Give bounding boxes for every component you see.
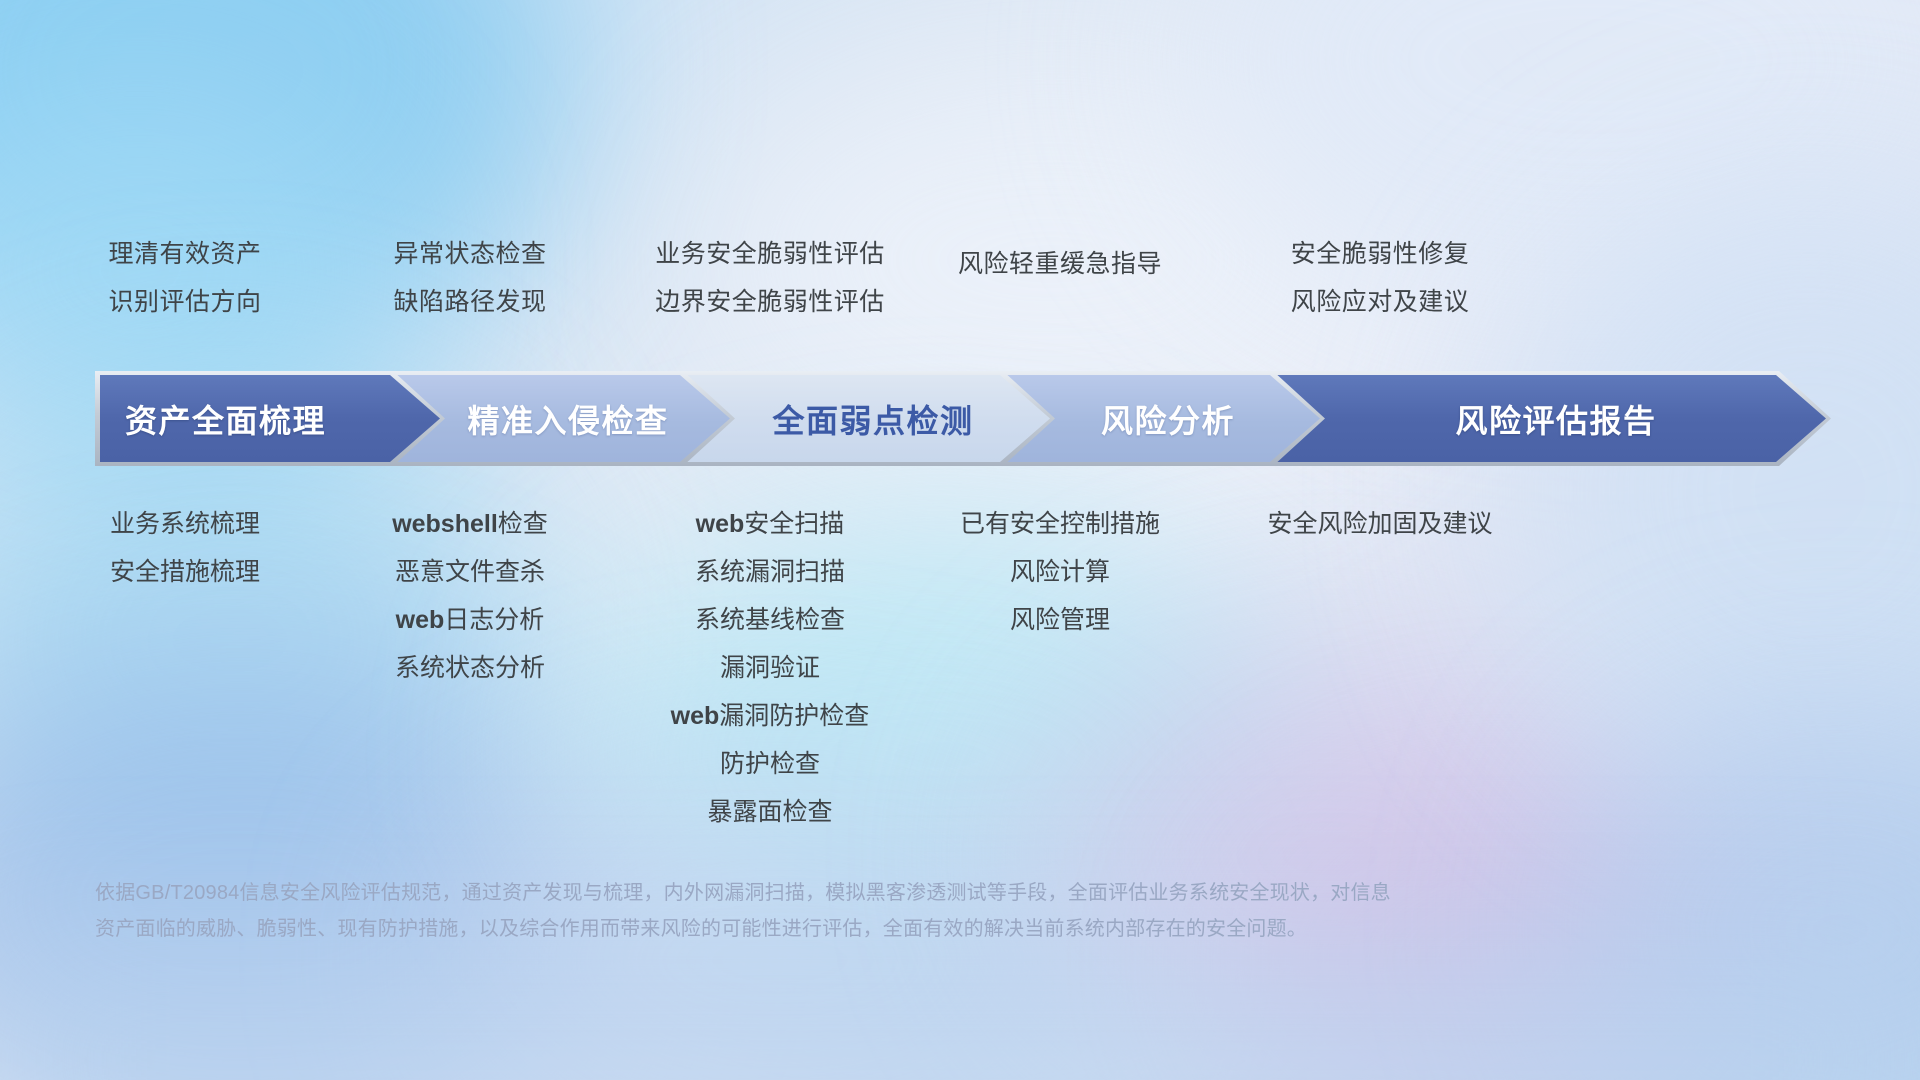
bottom-note-item: 风险管理 bbox=[860, 596, 1260, 644]
bottom-note-item: 风险计算 bbox=[860, 548, 1260, 596]
top-note-item: 安全脆弱性修复 bbox=[1180, 230, 1580, 278]
stage-chevron-band: 资产全面梳理精准入侵检查全面弱点检测风险分析风险评估报告 bbox=[95, 371, 1831, 466]
note-latin-prefix: web bbox=[696, 510, 745, 538]
bottom-note-item: 安全风险加固及建议 bbox=[1180, 500, 1580, 548]
stage-chevron-1[interactable]: 资产全面梳理 bbox=[95, 371, 445, 466]
bottom-notes-column: 安全风险加固及建议 bbox=[1180, 500, 1580, 548]
note-latin-prefix: web bbox=[396, 606, 445, 634]
footer-description: 依据GB/T20984信息安全风险评估规范，通过资产发现与梳理，内外网漏洞扫描，… bbox=[95, 875, 1615, 947]
note-cjk-suffix: 检查 bbox=[498, 510, 548, 538]
footer-line-2: 资产面临的威胁、脆弱性、现有防护措施，以及综合作用而带来风险的可能性进行评估，全… bbox=[95, 911, 1615, 947]
bottom-note-item: 防护检查 bbox=[570, 740, 970, 788]
top-note-item: 风险应对及建议 bbox=[1180, 278, 1580, 326]
bottom-note-item: web漏洞防护检查 bbox=[570, 692, 970, 740]
top-notes-row: 理清有效资产识别评估方向异常状态检查缺陷路径发现业务安全脆弱性评估边界安全脆弱性… bbox=[95, 230, 1825, 330]
stage-chevron-5[interactable]: 风险评估报告 bbox=[1265, 371, 1831, 466]
note-latin-prefix: webshell bbox=[392, 510, 498, 538]
process-diagram: 理清有效资产识别评估方向异常状态检查缺陷路径发现业务安全脆弱性评估边界安全脆弱性… bbox=[0, 0, 1920, 1080]
note-cjk-suffix: 漏洞防护检查 bbox=[719, 702, 869, 730]
note-cjk-suffix: 日志分析 bbox=[444, 606, 544, 634]
bottom-note-item: 漏洞验证 bbox=[570, 644, 970, 692]
stage-title: 风险评估报告 bbox=[1265, 371, 1831, 466]
note-cjk-suffix: 安全扫描 bbox=[744, 510, 844, 538]
bottom-note-item: 暴露面检查 bbox=[570, 788, 970, 836]
footer-line-1: 依据GB/T20984信息安全风险评估规范，通过资产发现与梳理，内外网漏洞扫描，… bbox=[95, 875, 1615, 911]
top-notes-column: 安全脆弱性修复风险应对及建议 bbox=[1180, 230, 1580, 326]
note-latin-prefix: web bbox=[671, 702, 720, 730]
stage-title: 资产全面梳理 bbox=[95, 371, 445, 466]
